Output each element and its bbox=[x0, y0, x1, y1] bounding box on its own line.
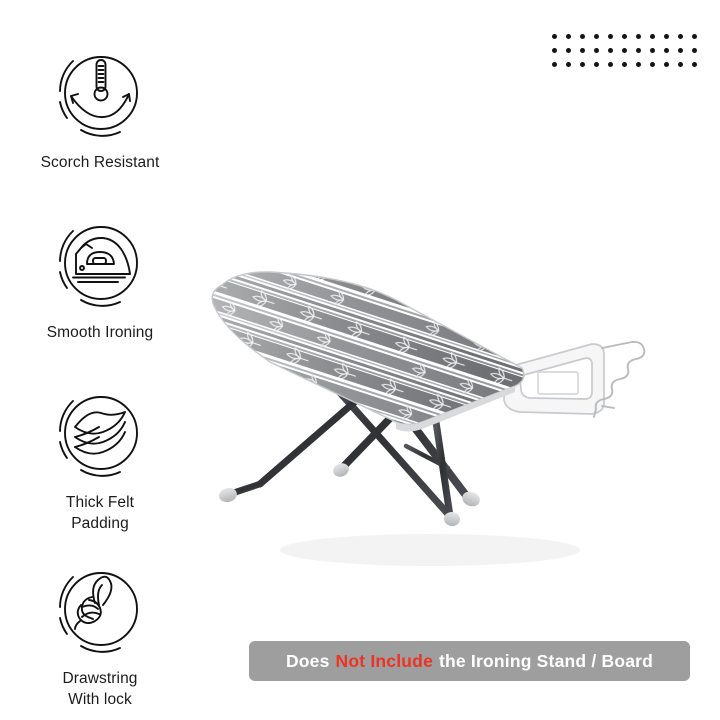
dot bbox=[580, 62, 585, 67]
dot bbox=[580, 48, 585, 53]
feature-label: Scorch Resistant bbox=[0, 152, 200, 173]
feature-item-smooth-ironing: Smooth Ironing bbox=[0, 214, 200, 343]
disclaimer-banner: Does Not Include the Ironing Stand / Boa… bbox=[249, 641, 690, 681]
product-feature-graphic: Scorch Resistant bbox=[0, 0, 720, 720]
dot bbox=[622, 48, 627, 53]
dot bbox=[594, 62, 599, 67]
feature-label-line: With lock bbox=[0, 689, 200, 710]
board-top bbox=[200, 240, 720, 640]
feature-item-drawstring-with-lock: Drawstring With lock bbox=[0, 560, 200, 710]
dot-grid-decoration bbox=[552, 34, 706, 76]
dot bbox=[594, 34, 599, 39]
dot bbox=[552, 48, 557, 53]
dot bbox=[678, 34, 683, 39]
feature-label-line: Thick Felt bbox=[0, 492, 200, 513]
feature-label-line: Scorch Resistant bbox=[0, 152, 200, 173]
banner-text-part1: Does bbox=[283, 651, 333, 672]
foot-cap bbox=[217, 486, 238, 504]
feature-label-line: Drawstring bbox=[0, 668, 200, 689]
scorch-resistant-icon bbox=[51, 44, 149, 142]
dot bbox=[580, 34, 585, 39]
dot bbox=[566, 62, 571, 67]
dot bbox=[664, 62, 669, 67]
dot bbox=[636, 34, 641, 39]
dot bbox=[622, 34, 627, 39]
dot bbox=[566, 48, 571, 53]
dot bbox=[692, 34, 697, 39]
dot bbox=[622, 62, 627, 67]
layered-felt-icon bbox=[51, 384, 149, 482]
dot bbox=[608, 62, 613, 67]
dot bbox=[678, 62, 683, 67]
feature-item-thick-felt-padding: Thick Felt Padding bbox=[0, 384, 200, 534]
dot bbox=[608, 34, 613, 39]
dot bbox=[636, 62, 641, 67]
dot bbox=[692, 48, 697, 53]
dot bbox=[664, 48, 669, 53]
dot bbox=[566, 34, 571, 39]
dot bbox=[650, 34, 655, 39]
dot bbox=[650, 48, 655, 53]
dot bbox=[608, 48, 613, 53]
dot bbox=[664, 34, 669, 39]
dot bbox=[650, 62, 655, 67]
floor-shadow bbox=[280, 534, 580, 566]
feature-label: Drawstring With lock bbox=[0, 668, 200, 710]
drawstring-lock-icon bbox=[51, 560, 149, 658]
dot bbox=[594, 48, 599, 53]
dot bbox=[636, 48, 641, 53]
product-image-ironing-board bbox=[200, 240, 720, 640]
banner-text-part2: the Ironing Stand / Board bbox=[436, 651, 656, 672]
feature-label-line: Padding bbox=[0, 513, 200, 534]
dot bbox=[552, 62, 557, 67]
dot bbox=[552, 34, 557, 39]
feature-label-line: Smooth Ironing bbox=[0, 322, 200, 343]
feature-label: Smooth Ironing bbox=[0, 322, 200, 343]
feature-item-scorch-resistant: Scorch Resistant bbox=[0, 44, 200, 173]
dot bbox=[692, 62, 697, 67]
banner-text-highlight: Not Include bbox=[333, 651, 436, 672]
dot bbox=[678, 48, 683, 53]
steam-iron-icon bbox=[51, 214, 149, 312]
feature-label: Thick Felt Padding bbox=[0, 492, 200, 534]
